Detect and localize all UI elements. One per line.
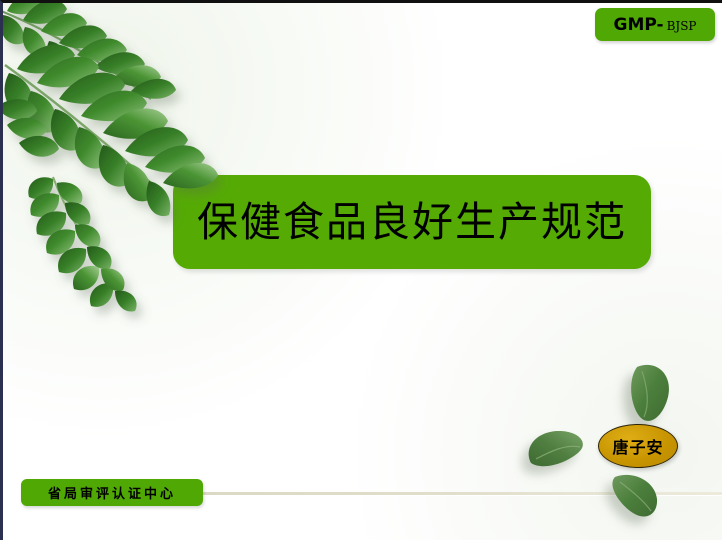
presentation-slide: GMP- BJSP 保健食品良好生产规范 唐子安 省局审评认证中心 xyxy=(0,0,722,540)
page-title: 保健食品良好生产规范 xyxy=(197,202,627,243)
gmp-badge-main-label: GMP- xyxy=(613,15,663,35)
gmp-badge[interactable]: GMP- BJSP xyxy=(595,8,715,41)
footer-divider-rule xyxy=(123,492,722,496)
footer-banner-label: 省局审评认证中心 xyxy=(48,483,176,502)
footer-banner[interactable]: 省局审评认证中心 xyxy=(21,479,203,506)
title-plate: 保健食品良好生产规范 xyxy=(173,175,651,269)
gmp-badge-sub-label: BJSP xyxy=(667,19,697,33)
author-name: 唐子安 xyxy=(612,434,663,458)
author-badge[interactable]: 唐子安 xyxy=(598,424,678,468)
